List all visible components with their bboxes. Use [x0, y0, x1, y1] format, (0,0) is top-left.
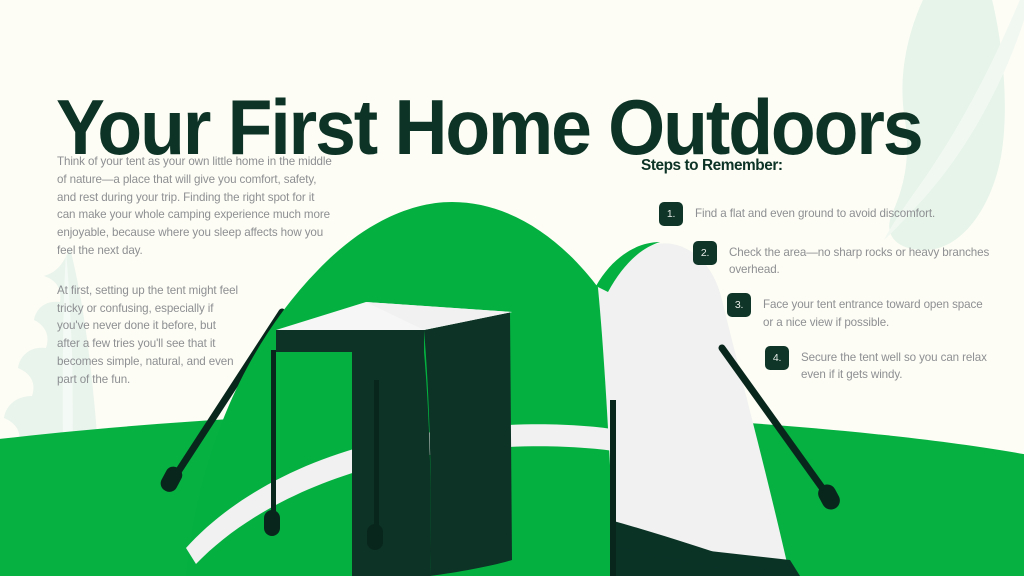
list-item: 3. Face your tent entrance toward open s…: [727, 296, 991, 330]
poster-canvas: Your First Home Outdoors Think of your t…: [0, 0, 1024, 576]
left-text-column: Think of your tent as your own little ho…: [57, 153, 333, 389]
step-badge-1: 1.: [659, 202, 683, 226]
steps-column: Steps to Remember: 1. Find a flat and ev…: [641, 157, 991, 401]
step-text-4: Secure the tent well so you can relax ev…: [801, 349, 991, 383]
steps-heading: Steps to Remember:: [641, 157, 991, 175]
step-text-2: Check the area—no sharp rocks or heavy b…: [729, 244, 991, 278]
poster-content: Your First Home Outdoors Think of your t…: [0, 0, 1024, 576]
step-badge-2: 2.: [693, 241, 717, 265]
intro-paragraph-2: At first, setting up the tent might feel…: [57, 282, 239, 389]
step-text-3: Face your tent entrance toward open spac…: [763, 296, 991, 330]
list-item: 2. Check the area—no sharp rocks or heav…: [693, 244, 991, 278]
step-badge-4: 4.: [765, 346, 789, 370]
list-item: 4. Secure the tent well so you can relax…: [765, 349, 991, 383]
step-text-1: Find a flat and even ground to avoid dis…: [695, 205, 935, 222]
step-badge-3: 3.: [727, 293, 751, 317]
intro-paragraph-1: Think of your tent as your own little ho…: [57, 153, 333, 260]
list-item: 1. Find a flat and even ground to avoid …: [659, 205, 991, 226]
